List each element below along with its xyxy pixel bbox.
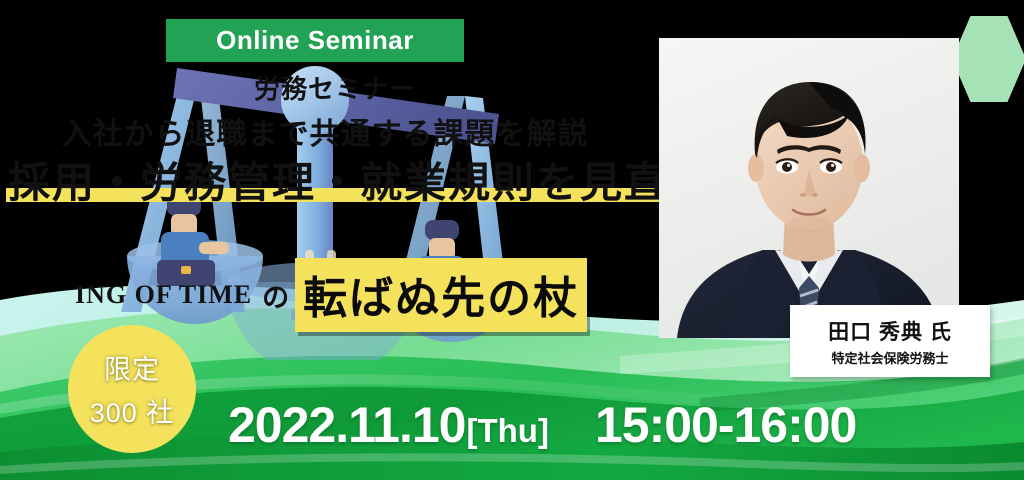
schedule-row: 2022.11.10 [Thu] 15:00-16:00 [228, 396, 856, 454]
headline-line-3-text: 採用・労務管理・就業規則を見直す [6, 159, 714, 206]
speaker-name-plate: 田口 秀典 氏 特定社会保険労務士 [790, 305, 990, 377]
limited-seats-badge: 限定 300 社 [68, 325, 196, 453]
online-seminar-badge: Online Seminar [166, 19, 464, 62]
proverb-text: 転ばぬ先の杖 [295, 258, 587, 332]
seminar-banner: Online Seminar 労務セミナー 入社から退職まで共通する課題を解説 … [0, 0, 1024, 480]
english-tagline: ING OF TIME [75, 280, 252, 310]
limited-count: 300 社 [90, 391, 175, 430]
limited-label: 限定 [104, 348, 160, 387]
proverb-row: ING OF TIME の 転ばぬ先の杖 [75, 258, 635, 332]
speaker-title: 特定社会保険労務士 [831, 348, 948, 367]
headline-line-2: 入社から退職まで共通する課題を解説 [10, 120, 640, 150]
event-date: 2022.11.10 [228, 396, 466, 454]
event-day-of-week: [Thu] [467, 412, 549, 450]
online-seminar-label: Online Seminar [216, 25, 414, 56]
headline-block: 労務セミナー 入社から退職まで共通する課題を解説 採用・労務管理・就業規則を見直… [0, 76, 640, 204]
speaker-photo [659, 38, 959, 338]
hexagon-decoration [952, 16, 1024, 102]
event-time: 15:00-16:00 [595, 396, 856, 454]
proverb-connector: の [262, 276, 289, 315]
speaker-name: 田口 秀典 氏 [828, 316, 952, 346]
headline-line-3: 採用・労務管理・就業規則を見直す [6, 162, 640, 204]
speaker-portrait-image [659, 38, 959, 338]
headline-line-1: 労務セミナー [30, 76, 640, 102]
